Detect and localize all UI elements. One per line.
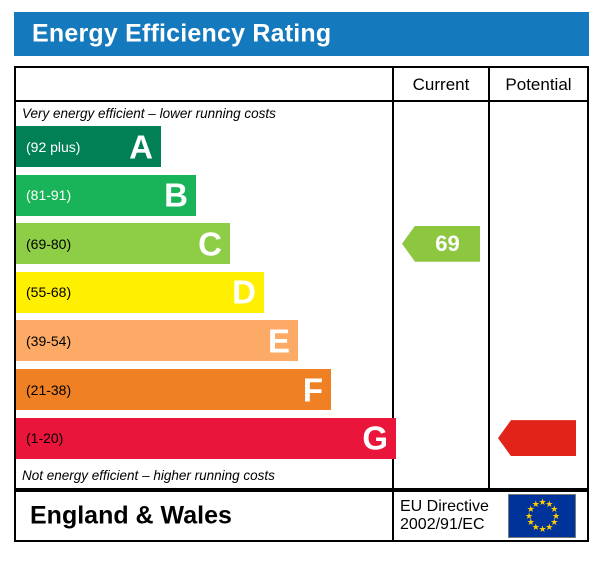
band-letter-f: F	[303, 373, 323, 406]
page-title: Energy Efficiency Rating	[32, 20, 331, 49]
column-header-potential: Potential	[490, 68, 587, 102]
current-rating-arrow: 69	[402, 226, 480, 262]
band-bar-a: (92 plus)A	[16, 126, 161, 167]
eu-flag-star-icon: ★	[532, 501, 539, 508]
band-range-a: (92 plus)	[26, 139, 80, 155]
band-letter-b: B	[164, 179, 188, 212]
band-bars-group: (92 plus)A(81-91)B(69-80)C(55-68)D(39-54…	[16, 126, 392, 466]
band-range-e: (39-54)	[26, 333, 71, 349]
band-range-c: (69-80)	[26, 236, 71, 252]
band-bar-g: (1-20)G	[16, 418, 396, 459]
band-bar-e: (39-54)E	[16, 320, 298, 361]
band-range-g: (1-20)	[26, 430, 63, 446]
band-letter-e: E	[268, 324, 290, 357]
footer-bar: England & Wales EU Directive 2002/91/EC …	[14, 490, 589, 542]
band-range-b: (81-91)	[26, 187, 71, 203]
caption-inefficient: Not energy efficient – higher running co…	[22, 468, 275, 483]
eu-directive-label: EU Directive 2002/91/EC	[400, 498, 489, 534]
table-header-row: Current Potential	[16, 68, 587, 102]
chart-title-bar: Energy Efficiency Rating	[14, 12, 589, 56]
band-bar-d: (55-68)D	[16, 272, 264, 313]
current-rating-value: 69	[415, 231, 480, 257]
eu-flag-icon: ★★★★★★★★★★★★	[508, 494, 576, 538]
band-range-d: (55-68)	[26, 284, 71, 300]
column-header-current: Current	[394, 68, 488, 102]
band-bar-f: (21-38)F	[16, 369, 331, 410]
band-letter-d: D	[232, 276, 256, 309]
footer-region-label: England & Wales	[30, 502, 232, 531]
band-letter-a: A	[129, 130, 153, 163]
caption-efficient: Very energy efficient – lower running co…	[22, 106, 276, 121]
footer-divider	[392, 492, 394, 540]
epc-certificate-chart: Energy Efficiency Rating Current Potenti…	[0, 0, 603, 564]
band-bar-c: (69-80)C	[16, 223, 230, 264]
eu-directive-line2: 2002/91/EC	[400, 516, 489, 534]
eu-directive-line1: EU Directive	[400, 498, 489, 516]
column-divider-potential	[488, 68, 490, 488]
band-range-f: (21-38)	[26, 382, 71, 398]
potential-rating-arrow	[498, 420, 576, 456]
band-bar-b: (81-91)B	[16, 175, 196, 216]
band-letter-g: G	[362, 422, 388, 455]
rating-table: Current Potential Very energy efficient …	[14, 66, 589, 490]
band-letter-c: C	[198, 227, 222, 260]
